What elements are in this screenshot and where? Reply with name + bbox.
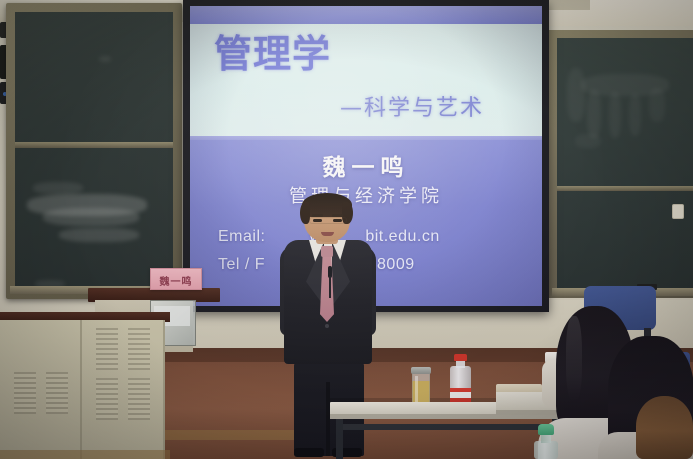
presenter-table-leg-left <box>336 419 343 459</box>
name-placard-text: 魏一鸣 <box>151 273 201 288</box>
jacket-button <box>325 324 329 328</box>
audience-member-3-hair <box>636 396 693 459</box>
audience-member-1-hair-sheen <box>566 316 582 402</box>
cabinet-vent <box>128 328 150 370</box>
cabinet-base-strip <box>0 450 170 459</box>
lecture-hall-photo: 管理学 —科学与艺术 魏一鸣 管理与经济学院 Email: w bit.edu.… <box>0 0 693 459</box>
water-bottle-label-stripe <box>450 392 471 398</box>
right-blackboard <box>557 38 693 290</box>
name-placard: 魏一鸣 <box>150 268 202 290</box>
equipment-cabinet[interactable] <box>0 320 165 459</box>
cabinet-vent <box>96 328 118 370</box>
wall-outlet <box>672 204 684 219</box>
green-cap-bottle-body <box>534 441 558 459</box>
cabinet-door-split <box>80 320 82 459</box>
cabinet-vent <box>14 372 36 414</box>
presenter-table-rail <box>336 424 560 430</box>
water-bottle-cap <box>454 354 467 361</box>
presenter-leg-gap <box>326 382 330 456</box>
presenter-face-shading <box>309 217 347 224</box>
presenter-speaker <box>276 196 380 459</box>
cabinet-vent <box>128 378 150 420</box>
presenter-mouth <box>321 232 334 236</box>
microphone-wire <box>329 276 331 298</box>
cabinet-vent <box>46 372 68 414</box>
green-cap-bottle-cap <box>538 424 554 435</box>
presenter-shoe-left <box>294 448 324 457</box>
left-blackboard-divider <box>15 142 173 148</box>
right-blackboard-divider <box>557 186 693 191</box>
presenter-tie-knot <box>321 246 333 257</box>
tea-glass-lid <box>411 367 431 374</box>
cabinet-vent <box>96 378 118 420</box>
left-blackboard <box>15 12 173 288</box>
presenter-necktie <box>320 256 334 322</box>
